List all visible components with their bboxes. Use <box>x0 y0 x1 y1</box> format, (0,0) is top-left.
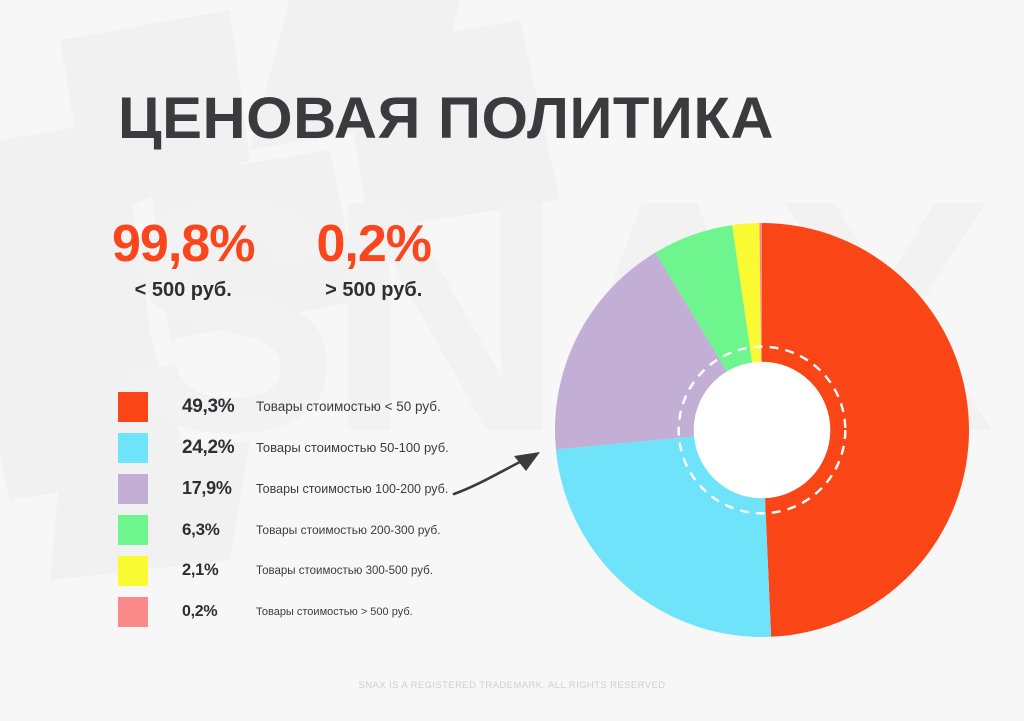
curved-arrow-icon <box>448 440 558 502</box>
legend-item: 49,3% Товары стоимостью < 50 руб. <box>118 386 449 427</box>
legend-item: 24,2% Товары стоимостью 50-100 руб. <box>118 427 449 468</box>
legend-percent: 49,3% <box>182 396 256 418</box>
legend-color-swatch <box>118 515 148 545</box>
legend-description: Товары стоимостью < 50 руб. <box>256 399 441 414</box>
stat-value: 0,2% <box>316 216 431 272</box>
legend-description: Товары стоимостью 100-200 руб. <box>256 482 448 496</box>
donut-chart <box>548 216 976 644</box>
legend-item: 2,1% Товары стоимостью 300-500 руб. <box>118 550 449 591</box>
legend-item: 17,9% Товары стоимостью 100-200 руб. <box>118 468 449 509</box>
footer-note: SNAX IS A REGISTERED TRADEMARK. ALL RIGH… <box>0 680 1024 691</box>
legend-color-swatch <box>118 474 148 504</box>
stat-label: < 500 руб. <box>112 278 254 302</box>
legend-percent: 2,1% <box>182 561 256 580</box>
legend-description: Товары стоимостью 50-100 руб. <box>256 440 449 455</box>
highlight-stat-under-500: 99,8% < 500 руб. <box>112 216 254 302</box>
legend-percent: 0,2% <box>182 603 256 621</box>
page-title: ЦЕНОВАЯ ПОЛИТИКА <box>118 88 774 150</box>
stat-value: 99,8% <box>112 216 254 272</box>
legend-description: Товары стоимостью 300-500 руб. <box>256 565 433 577</box>
legend-percent: 6,3% <box>182 520 256 540</box>
legend-description: Товары стоимостью > 500 руб. <box>256 606 413 618</box>
legend-percent: 17,9% <box>182 478 256 499</box>
stat-label: > 500 руб. <box>316 278 431 302</box>
legend-description: Товары стоимостью 200-300 руб. <box>256 523 441 537</box>
legend-color-swatch <box>118 433 148 463</box>
legend-item: 6,3% Товары стоимостью 200-300 руб. <box>118 509 449 550</box>
donut-center-hole <box>694 362 831 499</box>
highlight-stat-over-500: 0,2% > 500 руб. <box>316 216 431 302</box>
legend-color-swatch <box>118 392 148 422</box>
legend-color-swatch <box>118 597 148 627</box>
highlight-stats: 99,8% < 500 руб. 0,2% > 500 руб. <box>112 216 431 302</box>
legend-percent: 24,2% <box>182 437 256 459</box>
legend-item: 0,2% Товары стоимостью > 500 руб. <box>118 591 449 632</box>
legend-color-swatch <box>118 556 148 586</box>
chart-legend: 49,3% Товары стоимостью < 50 руб. 24,2% … <box>118 386 449 632</box>
